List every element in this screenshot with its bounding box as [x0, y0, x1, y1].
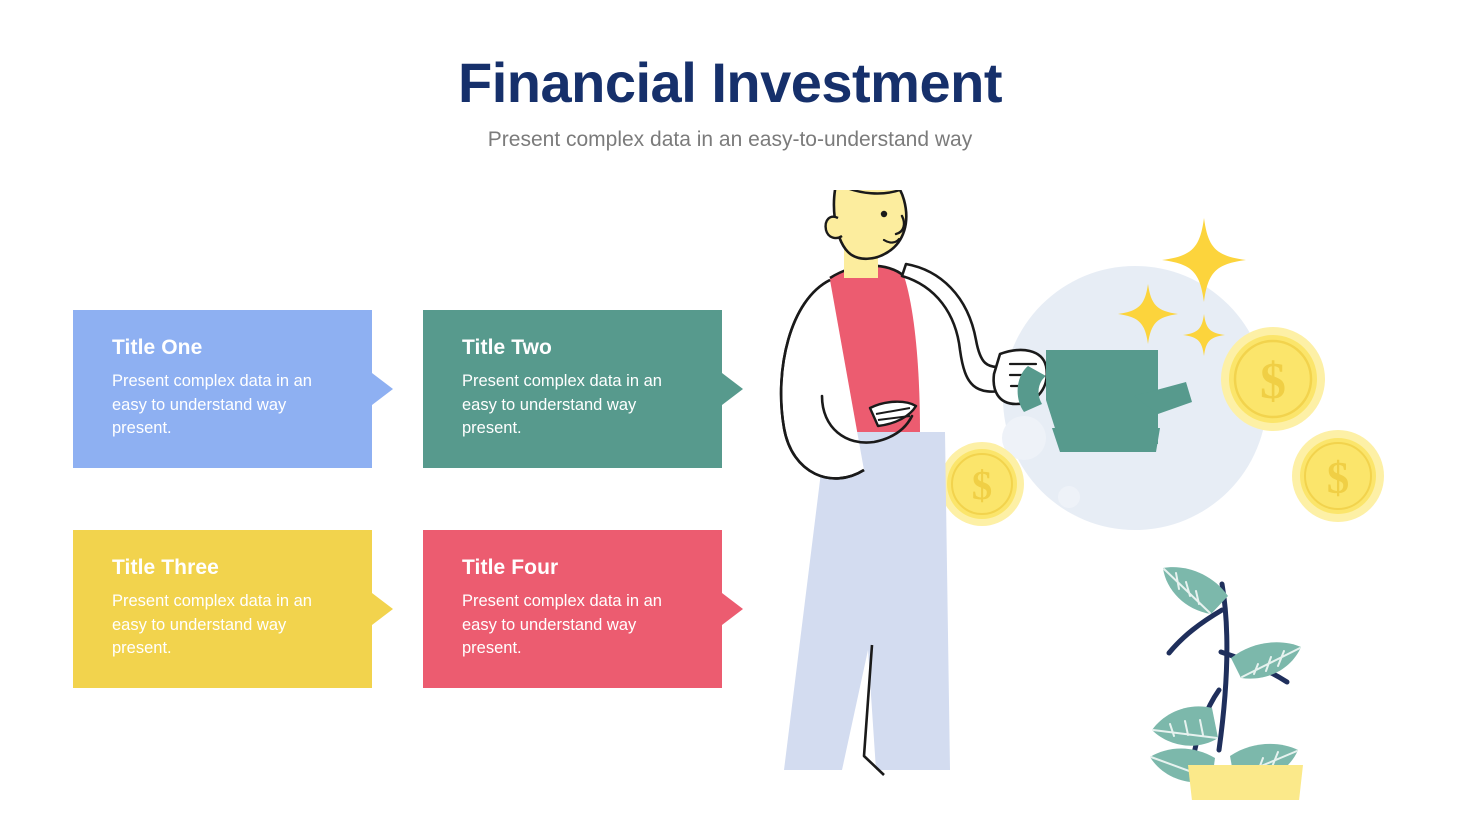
- svg-text:$: $: [1327, 453, 1350, 503]
- card-body: Present complex data in an easy to under…: [112, 590, 340, 660]
- decorative-dot-small: [1058, 486, 1080, 508]
- card-title: Title Four: [462, 556, 717, 579]
- card-body: Present complex data in an easy to under…: [462, 590, 690, 660]
- page-title: Financial Investment: [0, 52, 1460, 115]
- card-title: Title One: [112, 336, 367, 359]
- card-body: Present complex data in an easy to under…: [462, 370, 690, 440]
- svg-text:$: $: [972, 462, 993, 508]
- flower-pot: [1188, 765, 1303, 800]
- card-body: Present complex data in an easy to under…: [112, 370, 340, 440]
- info-card-title-one[interactable]: Title One Present complex data in an eas…: [73, 310, 393, 468]
- svg-text:$: $: [1260, 353, 1286, 410]
- card-title: Title Two: [462, 336, 717, 359]
- info-card-grid: Title One Present complex data in an eas…: [73, 310, 773, 690]
- header: Financial Investment Present complex dat…: [0, 52, 1460, 152]
- illustration-person-watering-money-plant: $ $ $: [760, 190, 1440, 800]
- info-card-title-two[interactable]: Title Two Present complex data in an eas…: [423, 310, 743, 468]
- dollar-coin-left: $: [940, 442, 1024, 526]
- card-title: Title Three: [112, 556, 367, 579]
- info-card-title-three[interactable]: Title Three Present complex data in an e…: [73, 530, 393, 688]
- page-subtitle: Present complex data in an easy-to-under…: [0, 127, 1460, 152]
- dollar-coin-right: $: [1292, 430, 1384, 522]
- person-head: [834, 190, 906, 259]
- dollar-coin-top: $: [1221, 327, 1325, 431]
- person-eye: [881, 211, 887, 217]
- info-card-title-four[interactable]: Title Four Present complex data in an ea…: [423, 530, 743, 688]
